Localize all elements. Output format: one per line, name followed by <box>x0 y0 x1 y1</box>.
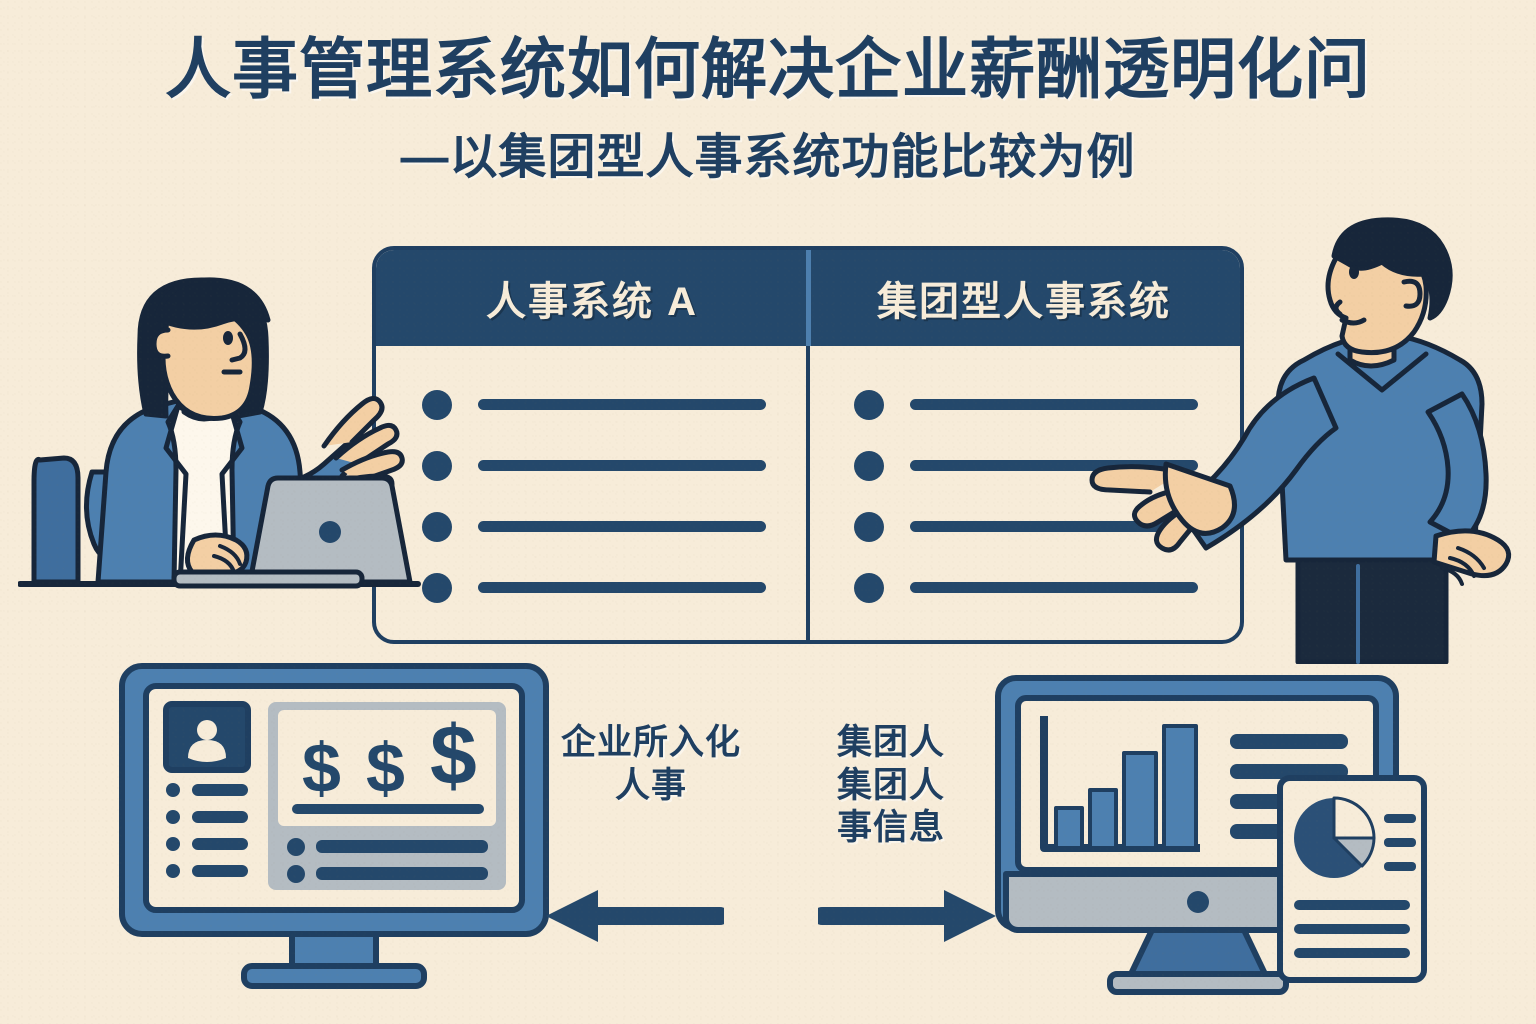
bar <box>1164 726 1196 848</box>
text-line <box>1294 924 1410 934</box>
eye <box>1349 265 1359 279</box>
text-line <box>1294 948 1410 958</box>
currency-symbol: $ <box>430 708 477 802</box>
feature-bar <box>478 582 766 593</box>
laptop-logo <box>319 521 341 543</box>
text-line <box>1384 862 1416 871</box>
eye <box>223 331 233 345</box>
bullet-dot-icon <box>854 451 884 481</box>
text-line <box>1384 838 1416 847</box>
chair-back <box>34 458 78 582</box>
page-subtitle: —以集团型人事系统功能比较为例 <box>0 117 1536 187</box>
feature-bar <box>478 521 766 532</box>
page-title: 人事管理系统如何解决企业薪酬透明化问 <box>0 34 1536 105</box>
arrow-left-icon <box>546 888 724 944</box>
feature-row[interactable] <box>422 557 766 618</box>
standing-man-pointing <box>1086 214 1536 664</box>
text-line <box>1230 734 1348 749</box>
infographic-canvas: 人事管理系统如何解决企业薪酬透明化问 —以集团型人事系统功能比较为例 <box>0 0 1536 1024</box>
bar <box>1124 753 1156 848</box>
monitor-neck <box>1130 930 1266 976</box>
footer-lines <box>1294 900 1410 958</box>
flow-label-right-line2b: 事信息 <box>786 807 996 850</box>
arrow-right-icon <box>818 888 996 944</box>
monitor-base <box>1110 974 1286 992</box>
currency-symbol: $ <box>302 729 341 807</box>
typing-hand <box>187 535 246 574</box>
laptop-base <box>174 572 362 586</box>
seated-woman-with-laptop <box>18 272 458 612</box>
feature-bar <box>478 460 766 471</box>
trousers <box>1298 554 1446 662</box>
text-line <box>1384 814 1416 823</box>
feature-bar <box>478 399 766 410</box>
bullet-dot-icon <box>854 573 884 603</box>
feature-row[interactable] <box>422 435 766 496</box>
legend-lines <box>1384 814 1416 871</box>
monitor-base <box>244 966 424 986</box>
flow-block: 企业所入化 人事 集团人 集团人 事信息 <box>546 722 996 944</box>
flow-label-left-line1: 企业所入化 <box>546 722 756 765</box>
currency-symbol: $ <box>366 729 405 807</box>
bar <box>1056 808 1082 848</box>
flow-label-left: 企业所入化 人事 <box>546 722 756 850</box>
flow-label-right-line2: 集团人 <box>786 765 996 808</box>
header-divider <box>806 250 811 346</box>
bullet-dot-icon <box>854 512 884 542</box>
feature-row[interactable] <box>422 374 766 435</box>
camera-dot <box>1187 891 1209 913</box>
flow-label-left-line2: 人事 <box>546 765 756 808</box>
pie-chart-icon <box>1294 798 1374 878</box>
text-line <box>1294 900 1410 910</box>
payroll-monitor[interactable]: $ $ $ <box>116 662 556 992</box>
feature-row[interactable] <box>422 496 766 557</box>
flow-label-right: 集团人 集团人 事信息 <box>786 722 996 850</box>
analytics-monitor[interactable] <box>986 668 1436 998</box>
bullet-dot-icon <box>854 390 884 420</box>
report-document <box>1280 778 1424 980</box>
flow-label-right-line1: 集团人 <box>786 722 996 765</box>
bar <box>1090 790 1116 848</box>
header-block: 人事管理系统如何解决企业薪酬透明化问 —以集团型人事系统功能比较为例 <box>0 34 1536 187</box>
monitor-neck <box>292 934 376 968</box>
